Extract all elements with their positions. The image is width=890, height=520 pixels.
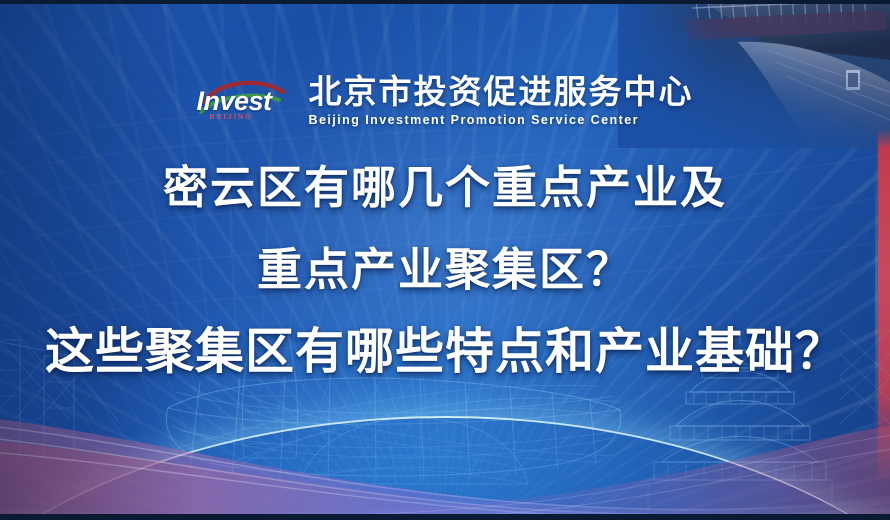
invest-beijing-logo: Invest BEIJING (197, 72, 295, 128)
logo-wordmark: Invest (197, 88, 272, 115)
light-ribbons (0, 390, 890, 520)
top-letterbox-bar (0, 0, 890, 4)
brand-header: Invest BEIJING 北京市投资促进服务中心 Beijing Inves… (0, 72, 890, 128)
headline-line-2: 重点产业聚集区？ (14, 247, 876, 292)
organization-name-en: Beijing Investment Promotion Service Cen… (309, 114, 639, 127)
bottom-letterbox-bar (0, 514, 890, 520)
organization-name-cn: 北京市投资促进服务中心 (309, 74, 694, 111)
logo-subwordmark: BEIJING (210, 114, 253, 121)
poster-canvas: Invest BEIJING 北京市投资促进服务中心 Beijing Inves… (0, 0, 890, 520)
headline-line-3: 这些聚集区有哪些特点和产业基础？ (14, 328, 876, 377)
brand-text-block: 北京市投资促进服务中心 Beijing Investment Promotion… (309, 74, 694, 126)
headline-block: 密云区有哪几个重点产业及 重点产业聚集区？ 这些聚集区有哪些特点和产业基础？ (0, 165, 890, 377)
headline-line-1: 密云区有哪几个重点产业及 (14, 165, 876, 210)
